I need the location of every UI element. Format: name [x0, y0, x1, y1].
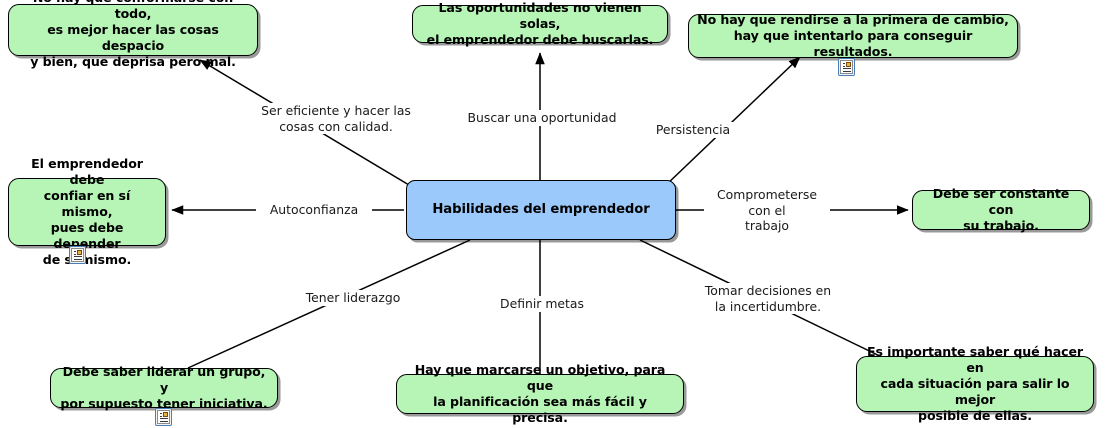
node-center-habilidades[interactable]: Habilidades del emprendedor [406, 180, 676, 240]
node-ser-eficiente[interactable]: No hay que conformarse con todo, es mejo… [8, 4, 258, 56]
node-center-text: Habilidades del emprendedor [415, 202, 667, 218]
edge-label-tomar-decisiones: Tomar decisiones en la incertidumbre. [690, 283, 846, 314]
node-autoconfianza-text: El emprendedor debe confiar en sí mismo,… [17, 156, 157, 268]
node-definir-metas-text: Hay que marcarse un objetivo, para que l… [405, 362, 675, 426]
edge-label-autoconfianza: Autoconfianza [256, 202, 372, 218]
node-autoconfianza[interactable]: El emprendedor debe confiar en sí mismo,… [8, 178, 166, 246]
node-definir-metas[interactable]: Hay que marcarse un objetivo, para que l… [396, 374, 684, 414]
node-tener-liderazgo[interactable]: Debe saber liderar un grupo, y por supue… [50, 368, 278, 408]
note-attachment-icon-autoconfianza[interactable] [69, 246, 86, 264]
mind-map-canvas: No hay que conformarse con todo, es mejo… [0, 0, 1108, 428]
node-persistencia-text: No hay que rendirse a la primera de camb… [697, 12, 1009, 60]
edge-label-definir-metas: Definir metas [484, 296, 600, 312]
node-tomar-decisiones-text: Es importante saber qué hacer en cada si… [865, 344, 1085, 424]
edge-label-buscar-oportunidad: Buscar una oportunidad [452, 110, 632, 126]
note-attachment-icon-persistencia[interactable] [838, 58, 855, 76]
edge-label-ser-eficiente: Ser eficiente y hacer las cosas con cali… [244, 103, 428, 134]
node-tener-liderazgo-text: Debe saber liderar un grupo, y por supue… [59, 364, 269, 412]
node-buscar-oportunidad-text: Las oportunidades no vienen solas, el em… [421, 0, 659, 48]
node-comprometerse[interactable]: Debe ser constante con su trabajo. [912, 190, 1090, 230]
note-attachment-icon-liderazgo[interactable] [155, 408, 172, 426]
note-sheet [840, 60, 853, 74]
node-ser-eficiente-text: No hay que conformarse con todo, es mejo… [17, 0, 249, 70]
note-sheet [157, 410, 170, 424]
edge-label-tener-liderazgo: Tener liderazgo [295, 290, 411, 306]
edge-label-persistencia: Persistencia [640, 122, 746, 138]
node-tomar-decisiones[interactable]: Es importante saber qué hacer en cada si… [856, 356, 1094, 412]
note-sheet [71, 248, 84, 262]
node-comprometerse-text: Debe ser constante con su trabajo. [921, 186, 1081, 234]
edge-label-comprometerse: Comprometerse con el trabajo [704, 187, 830, 234]
node-buscar-oportunidad[interactable]: Las oportunidades no vienen solas, el em… [412, 5, 668, 43]
node-persistencia[interactable]: No hay que rendirse a la primera de camb… [688, 14, 1018, 58]
